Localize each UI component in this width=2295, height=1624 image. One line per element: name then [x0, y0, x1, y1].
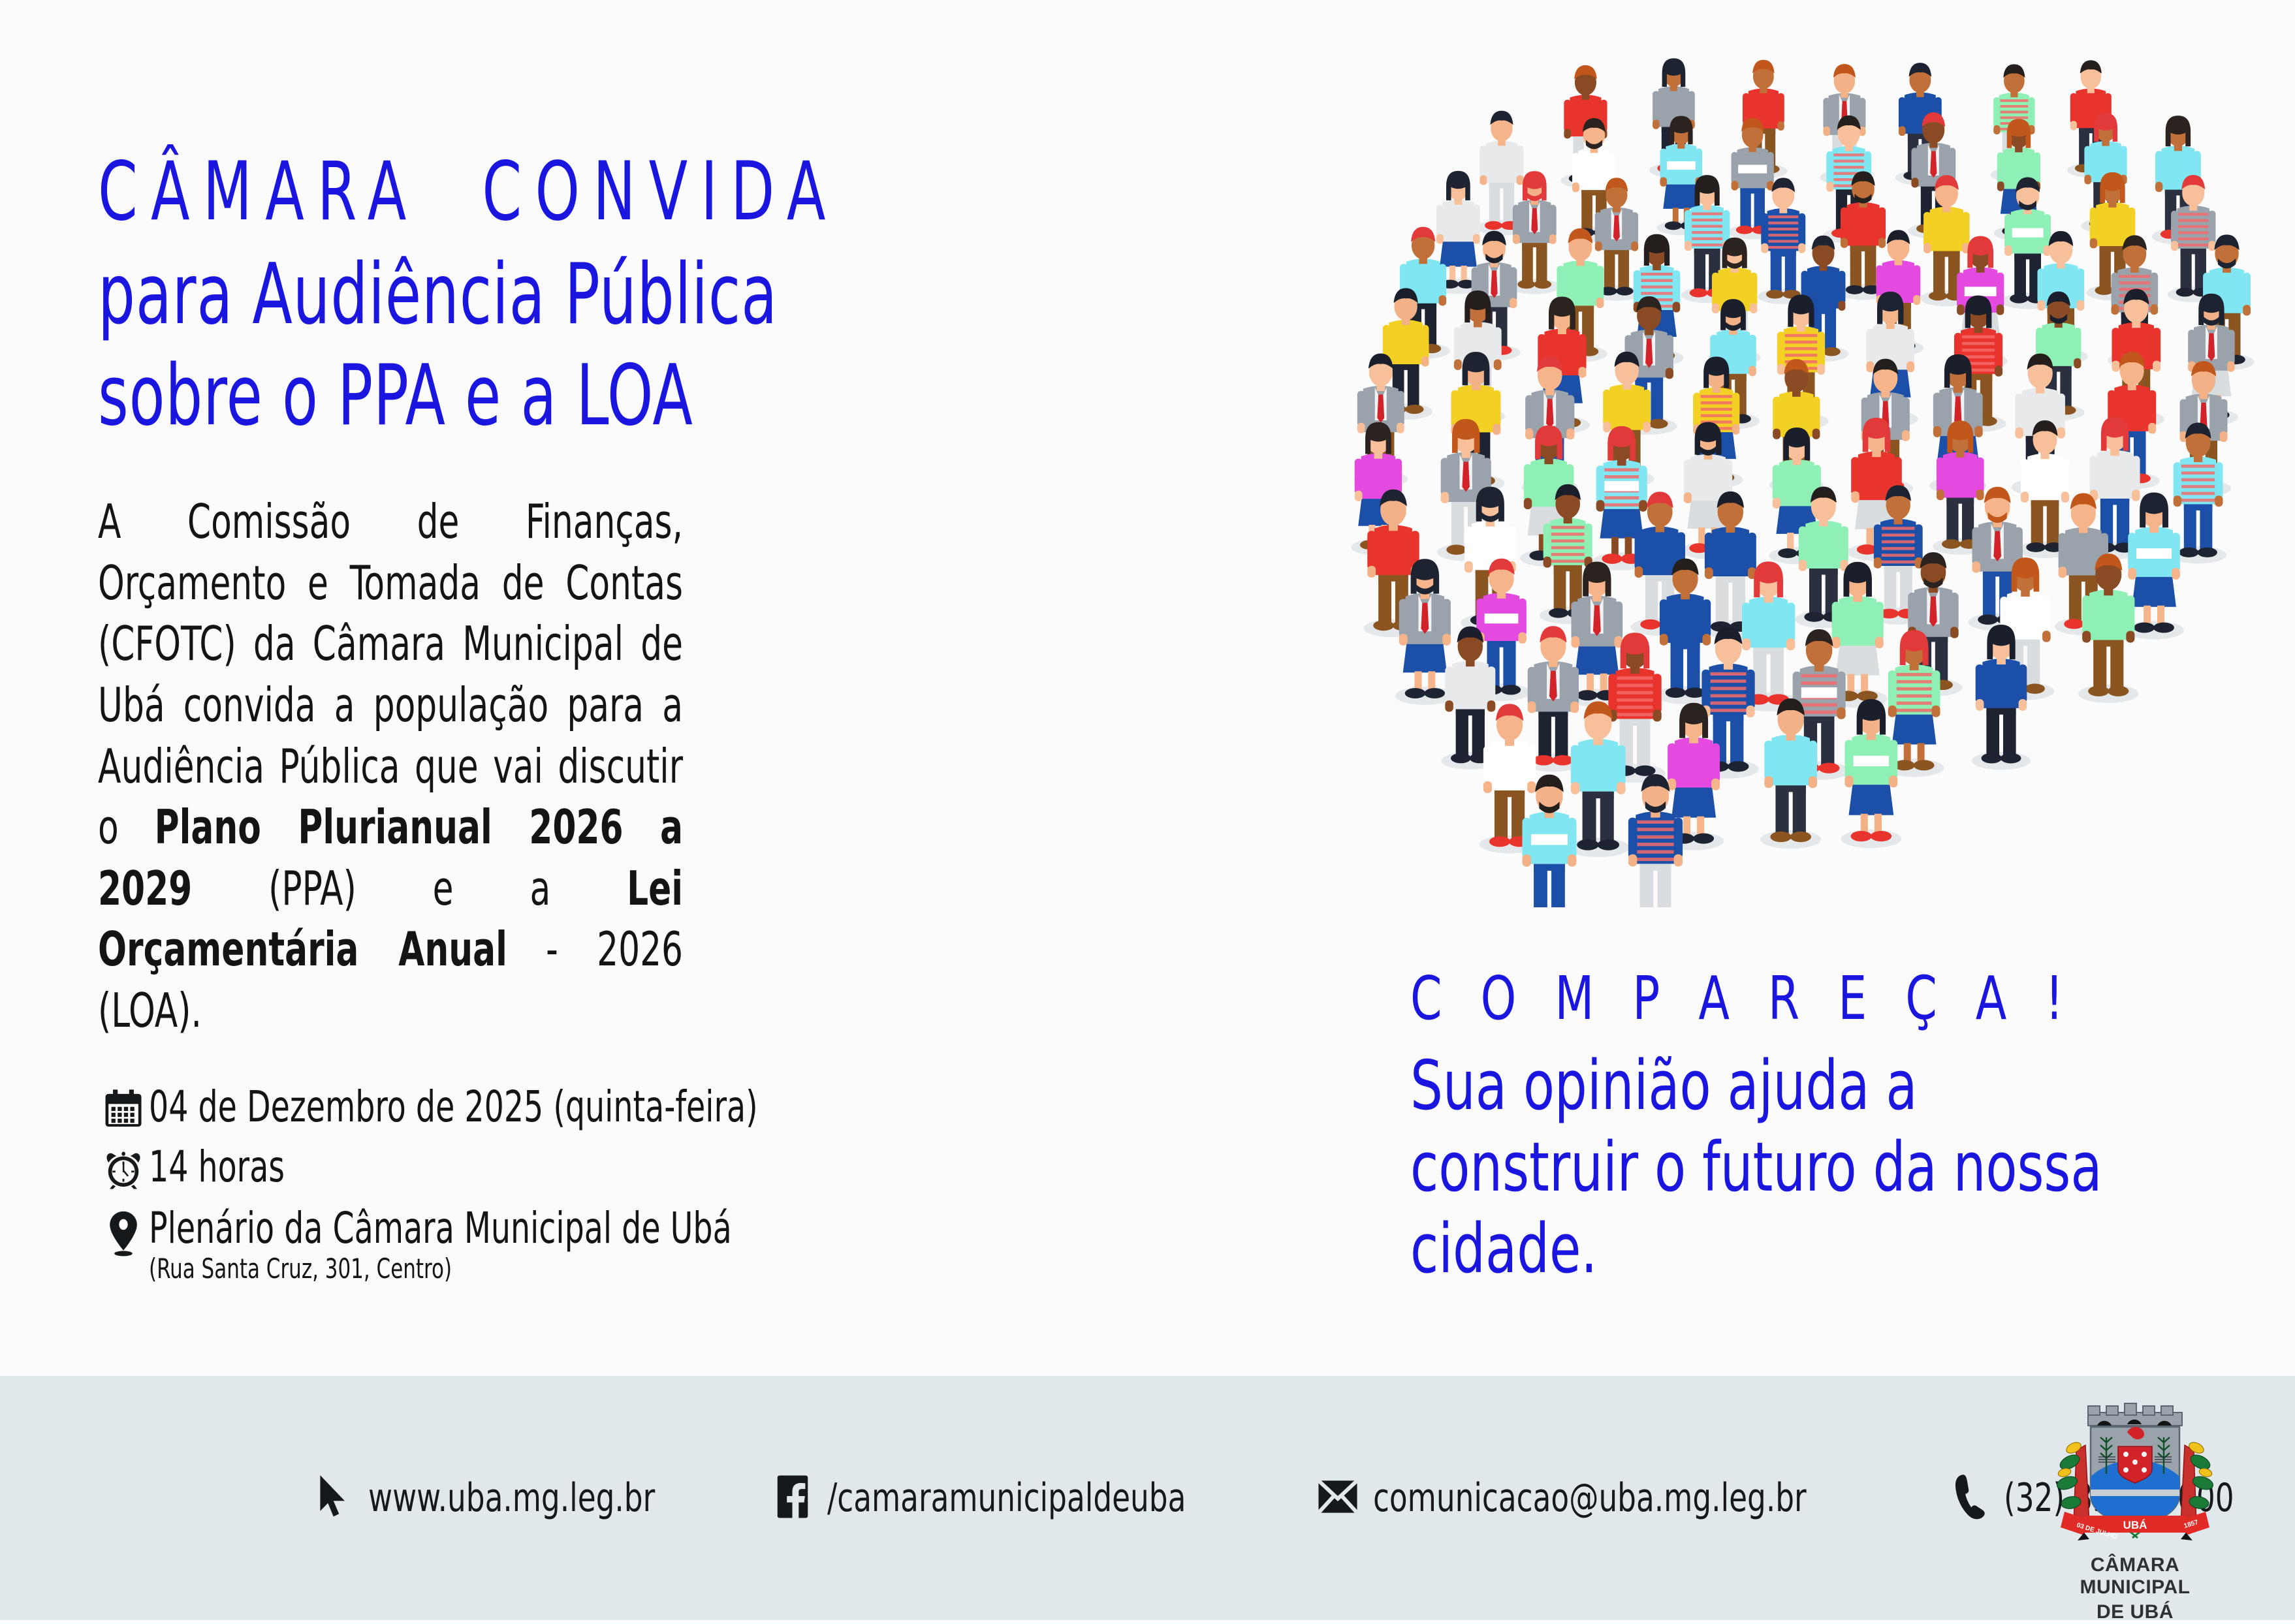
footer-item-email[interactable]: comunicacao@uba.mg.leg.br	[1317, 1475, 1889, 1521]
footer-item-website[interactable]: www.uba.mg.leg.br	[313, 1473, 710, 1523]
crest-center-label: UBÁ	[2123, 1519, 2147, 1531]
event-details: 04 de Dezembro de 2025 (quinta-feira)	[98, 1084, 1208, 1297]
person-figure	[1841, 699, 1901, 848]
person-figure	[1510, 171, 1560, 294]
detail-row-time: 14 horas	[98, 1144, 1208, 1192]
camara-logo: 03 DE JULHO UBÁ 1857 CÂMARA MUNICIPAL DE…	[2037, 1394, 2233, 1624]
coat-of-arms-icon: 03 DE JULHO UBÁ 1857	[2050, 1394, 2220, 1548]
envelope-icon	[1317, 1477, 1359, 1520]
footer-bar: www.uba.mg.leg.br /camaramunicipaldeuba …	[0, 1376, 2295, 1620]
detail-date-text: 04 de Dezembro de 2025 (quinta-feira)	[149, 1084, 758, 1130]
facebook-icon	[772, 1473, 813, 1524]
crowd-svg	[1342, 33, 2269, 907]
poster-canvas: CÂMARA CONVIDA para Audiência Pública so…	[0, 0, 2295, 1620]
calendar-icon	[98, 1084, 149, 1131]
call-to-action-block: C O M P A R E Ç A ! Sua opinião ajuda a …	[1410, 966, 2285, 1290]
body-paragraph: A Comissão de Finanças, Orçamento e Toma…	[98, 492, 683, 1041]
footer-website-label: www.uba.mg.leg.br	[368, 1475, 655, 1521]
alarm-clock-icon	[98, 1144, 149, 1192]
body-part-2: (PPA) e a	[192, 861, 627, 916]
person-figure	[1758, 178, 1809, 304]
phone-icon	[1952, 1472, 1989, 1525]
crowd-of-people-illustration	[1342, 33, 2269, 907]
detail-location-text: Plenário da Câmara Municipal de Ubá	[149, 1205, 732, 1251]
page-title-line-3: sobre o PPA e a LOA	[98, 352, 1096, 439]
detail-location-address: (Rua Santa Cruz, 301, Centro)	[149, 1254, 746, 1284]
page-title-line-2: para Audiência Pública	[98, 251, 1096, 338]
cta-subtext: Sua opinião ajuda a construir o futuro d…	[1410, 1045, 2145, 1289]
detail-row-date: 04 de Dezembro de 2025 (quinta-feira)	[98, 1084, 1208, 1131]
footer-item-facebook[interactable]: /camaramunicipaldeuba	[772, 1473, 1254, 1524]
page-title-line-1: CÂMARA CONVIDA	[98, 150, 1096, 234]
cta-headline: C O M P A R E Ç A !	[1410, 966, 2145, 1031]
location-pin-icon	[98, 1205, 149, 1258]
footer-email-label: comunicacao@uba.mg.leg.br	[1373, 1475, 1807, 1521]
footer-facebook-label: /camaramunicipaldeuba	[827, 1475, 1186, 1521]
brand-name-line-2: DE UBÁ	[2037, 1601, 2233, 1623]
person-figure	[1518, 775, 1580, 907]
brand-name-line-1: CÂMARA MUNICIPAL	[2037, 1554, 2233, 1599]
detail-time-text: 14 horas	[149, 1144, 285, 1190]
detail-row-location: Plenário da Câmara Municipal de Ubá (Rua…	[98, 1205, 1208, 1284]
cursor-arrow-icon	[313, 1473, 354, 1523]
footer-contact-list: www.uba.mg.leg.br /camaramunicipaldeuba …	[313, 1376, 2278, 1620]
